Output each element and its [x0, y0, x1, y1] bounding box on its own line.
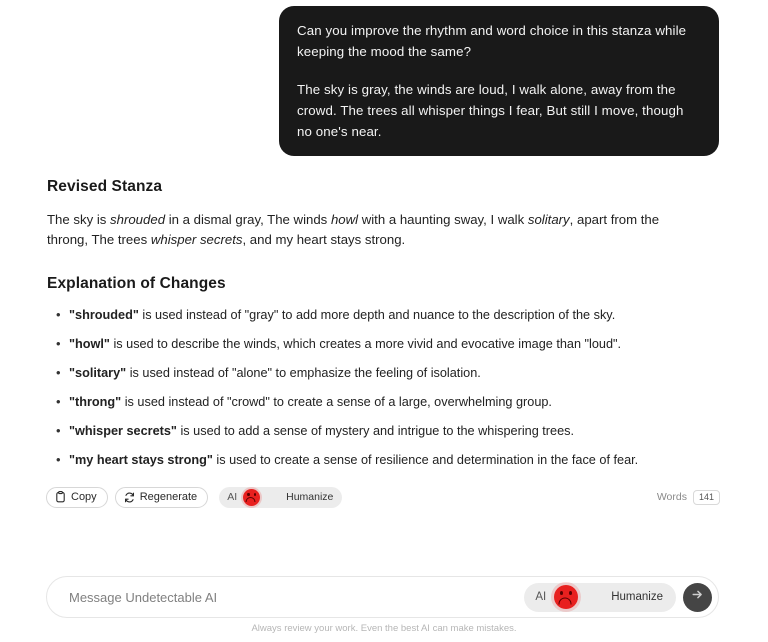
list-item: "whisper secrets" is used to add a sense… [69, 423, 720, 440]
list-item: "shrouded" is used instead of "gray" to … [69, 307, 720, 324]
change-description: is used instead of "gray" to add more de… [139, 308, 615, 322]
frowning-face-icon [243, 489, 260, 506]
stanza-part-1: The sky is [47, 212, 110, 227]
stanza-italic-shrouded: shrouded [110, 212, 165, 227]
word-count-badge: 141 [693, 490, 720, 505]
send-button[interactable] [683, 583, 712, 612]
list-item: "my heart stays strong" is used to creat… [69, 452, 720, 469]
revised-stanza-text: The sky is shrouded in a dismal gray, Th… [47, 210, 697, 249]
copy-button-label: Copy [71, 491, 97, 503]
change-term: "solitary" [69, 366, 126, 380]
toggle-label-humanize: Humanize [286, 491, 333, 503]
regenerate-button-label: Regenerate [140, 491, 198, 503]
user-message-row: Can you improve the rhythm and word choi… [0, 0, 768, 156]
word-count: Words 141 [657, 490, 720, 505]
word-count-label: Words [657, 491, 687, 503]
change-description: is used to describe the winds, which cre… [110, 337, 621, 351]
user-message-paragraph-1: Can you improve the rhythm and word choi… [297, 20, 702, 62]
stanza-italic-solitary: solitary [528, 212, 570, 227]
composer-toggle-label-ai: AI [535, 591, 546, 603]
revised-stanza-heading: Revised Stanza [47, 178, 720, 196]
disclaimer-text: Always review your work. Even the best A… [0, 623, 768, 634]
list-item: "solitary" is used instead of "alone" to… [69, 365, 720, 382]
change-description: is used to add a sense of mystery and in… [177, 424, 574, 438]
change-term: "throng" [69, 395, 121, 409]
regenerate-button[interactable]: Regenerate [115, 487, 209, 508]
explanation-heading: Explanation of Changes [47, 275, 720, 293]
change-term: "whisper secrets" [69, 424, 177, 438]
composer-ai-humanize-toggle[interactable]: AI Humanize [524, 583, 676, 612]
composer-area: AI Humanize [0, 576, 768, 618]
change-term: "shrouded" [69, 308, 139, 322]
stanza-part-3: with a haunting sway, I walk [358, 212, 528, 227]
list-item: "throng" is used instead of "crowd" to c… [69, 394, 720, 411]
toggle-label-ai: AI [227, 491, 237, 503]
arrow-right-icon [690, 587, 705, 607]
change-term: "howl" [69, 337, 110, 351]
composer-toggle-label-humanize: Humanize [611, 591, 663, 603]
copy-button[interactable]: Copy [46, 487, 108, 508]
change-description: is used to create a sense of resilience … [213, 453, 638, 467]
message-action-toolbar: Copy Regenerate AI Humanize Words 141 [0, 485, 768, 509]
list-item: "howl" is used to describe the winds, wh… [69, 336, 720, 353]
stanza-italic-howl: howl [331, 212, 358, 227]
message-input[interactable] [67, 576, 524, 618]
stanza-part-2: in a dismal gray, The winds [165, 212, 331, 227]
assistant-answer: Revised Stanza The sky is shrouded in a … [0, 178, 768, 469]
stanza-part-5: , and my heart stays strong. [242, 232, 405, 247]
refresh-icon [124, 492, 135, 503]
clipboard-icon [55, 491, 66, 503]
change-description: is used instead of "crowd" to create a s… [121, 395, 552, 409]
ai-humanize-toggle[interactable]: AI Humanize [219, 487, 342, 508]
composer-bar: AI Humanize [46, 576, 719, 618]
frowning-face-icon [554, 585, 578, 609]
user-message-bubble: Can you improve the rhythm and word choi… [279, 6, 719, 156]
change-term: "my heart stays strong" [69, 453, 213, 467]
user-message-paragraph-2: The sky is gray, the winds are loud, I w… [297, 79, 702, 142]
changes-list: "shrouded" is used instead of "gray" to … [47, 307, 720, 469]
change-description: is used instead of "alone" to emphasize … [126, 366, 481, 380]
stanza-italic-whisper-secrets: whisper secrets [151, 232, 243, 247]
